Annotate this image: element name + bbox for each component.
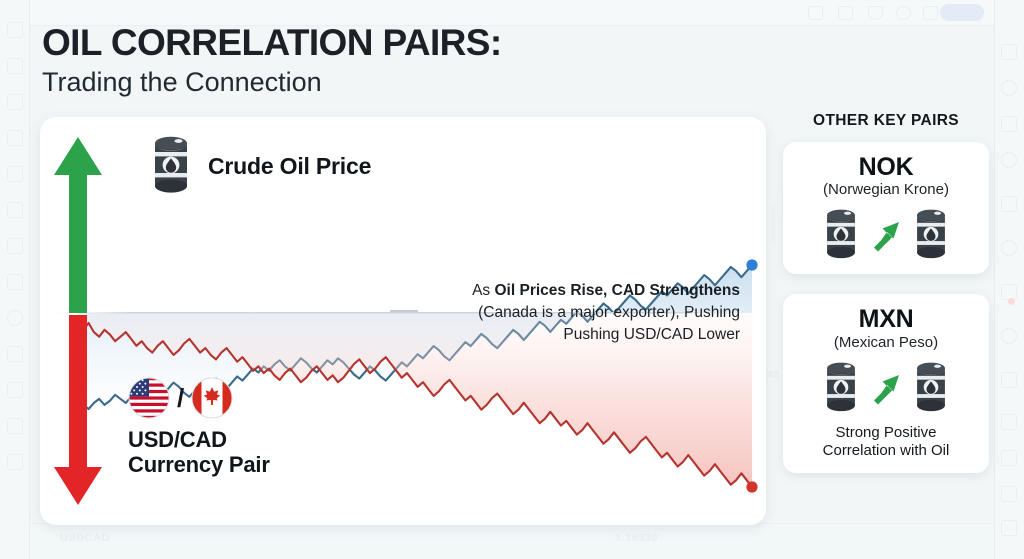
us-flag-icon	[128, 377, 170, 419]
pair-note: Strong PositiveCorrelation with Oil	[793, 424, 979, 462]
bg-status-bar	[30, 523, 994, 559]
usdcad-legend: / USD/CAD Currency Pair	[128, 377, 270, 477]
other-key-pairs-heading: OTHER KEY PAIRS	[783, 112, 989, 130]
pair-note-line: Correlation with Oil	[793, 442, 979, 461]
annotation-line3: Pushing USD/CAD Lower	[430, 324, 740, 346]
canada-flag-icon	[191, 377, 233, 419]
bg-tool-magnet-icon	[7, 382, 23, 398]
bg-stream-icon	[1001, 240, 1017, 256]
bg-settings-icon	[1001, 520, 1017, 536]
annotation-leader-line	[390, 310, 418, 312]
annotation-line1: As Oil Prices Rise, CAD Strengthens	[430, 280, 740, 302]
oil-barrel-icon	[911, 361, 951, 415]
bg-tool-crosshair-icon	[7, 58, 23, 74]
bg-tool-pattern-icon	[7, 238, 23, 254]
annotation-line2: (Canada is a major exporter), Pushing	[430, 302, 740, 324]
bg-tool-lock-icon	[7, 418, 23, 434]
bg-notifications-bell-icon	[1001, 372, 1017, 388]
bg-tool-brush-icon	[7, 346, 23, 362]
bg-grid-icon	[923, 6, 938, 20]
bg-tool-ruler-icon	[7, 274, 23, 290]
bg-tool-trendline-icon	[7, 94, 23, 110]
bg-ideas-icon	[1001, 152, 1017, 168]
annotation-line1-plain: As	[472, 282, 494, 299]
bg-chat-icon	[1001, 196, 1017, 212]
bg-tool-visibility-icon	[7, 454, 23, 470]
bg-ghost-price: 1.36330	[615, 532, 658, 544]
pair-card-mxn[interactable]: MXN (Mexican Peso)	[783, 294, 989, 473]
red-down-arrow-icon	[54, 315, 102, 505]
pair-note-line: Strong Positive	[793, 424, 979, 443]
bg-layout-icon	[808, 6, 823, 20]
other-key-pairs-panel: OTHER KEY PAIRS NOK (Norwegian Krone)	[783, 112, 989, 493]
bg-alerts-clock-icon	[1001, 80, 1017, 96]
bg-broadcast-icon	[1001, 328, 1017, 344]
bg-notification-dot	[1008, 298, 1015, 305]
bg-messages-icon	[1001, 284, 1017, 300]
usdcad-label: USD/CAD Currency Pair	[128, 428, 270, 477]
bg-candle	[772, 206, 775, 242]
bg-refresh-icon	[950, 6, 965, 20]
bg-search-icon	[896, 6, 911, 20]
currency-flags: /	[128, 377, 270, 419]
flag-separator: /	[177, 383, 184, 414]
bg-drawing-tools-rail	[0, 0, 30, 559]
oil-barrel-icon	[821, 208, 861, 262]
bg-widgets-rail	[994, 0, 1024, 559]
bg-tool-fib-icon	[7, 166, 23, 182]
green-up-arrow-icon	[54, 137, 102, 313]
bg-screener-icon	[1001, 450, 1017, 466]
pair-name: (Norwegian Krone)	[793, 181, 979, 199]
bg-calendar-icon	[1001, 486, 1017, 502]
bg-alerts-pill	[940, 4, 984, 21]
bg-tool-cursor-icon	[7, 22, 23, 38]
green-up-arrow-icon	[870, 371, 902, 405]
bg-data-window-icon	[1001, 116, 1017, 132]
annotation-line1-bold: Oil Prices Rise, CAD Strengthens	[495, 282, 741, 299]
pair-icons	[793, 208, 979, 262]
bg-ghost-symbol: USDCAD	[60, 532, 110, 544]
oil-barrel-icon	[148, 135, 194, 197]
bg-tool-emoji-icon	[7, 310, 23, 326]
oil-barrel-icon	[911, 208, 951, 262]
bg-tool-text-icon	[7, 202, 23, 218]
page-header: OIL CORRELATION PAIRS: Trading the Conne…	[42, 24, 502, 96]
bg-indicators-icon	[838, 6, 853, 20]
pair-icons	[793, 361, 979, 415]
usdcad-label-line2: Currency Pair	[128, 453, 270, 478]
pair-code: MXN	[793, 306, 979, 332]
pair-code: NOK	[793, 154, 979, 180]
pair-card-nok[interactable]: NOK (Norwegian Krone)	[783, 142, 989, 274]
oil-barrel-icon	[821, 361, 861, 415]
bg-filter-icon	[868, 6, 883, 20]
bg-tool-channel-icon	[7, 130, 23, 146]
bg-orders-icon	[1001, 414, 1017, 430]
page-title: OIL CORRELATION PAIRS:	[42, 24, 502, 61]
correlation-annotation: As Oil Prices Rise, CAD Strengthens (Can…	[430, 280, 740, 346]
green-up-arrow-icon	[870, 218, 902, 252]
correlation-chart-card: Crude Oil Price	[40, 117, 766, 525]
pair-name: (Mexican Peso)	[793, 334, 979, 352]
oil-price-label: Crude Oil Price	[208, 153, 371, 180]
page-subtitle: Trading the Connection	[42, 68, 502, 96]
oil-price-legend: Crude Oil Price	[148, 135, 371, 197]
bg-watchlist-icon	[1001, 44, 1017, 60]
usdcad-label-line1: USD/CAD	[128, 428, 270, 453]
